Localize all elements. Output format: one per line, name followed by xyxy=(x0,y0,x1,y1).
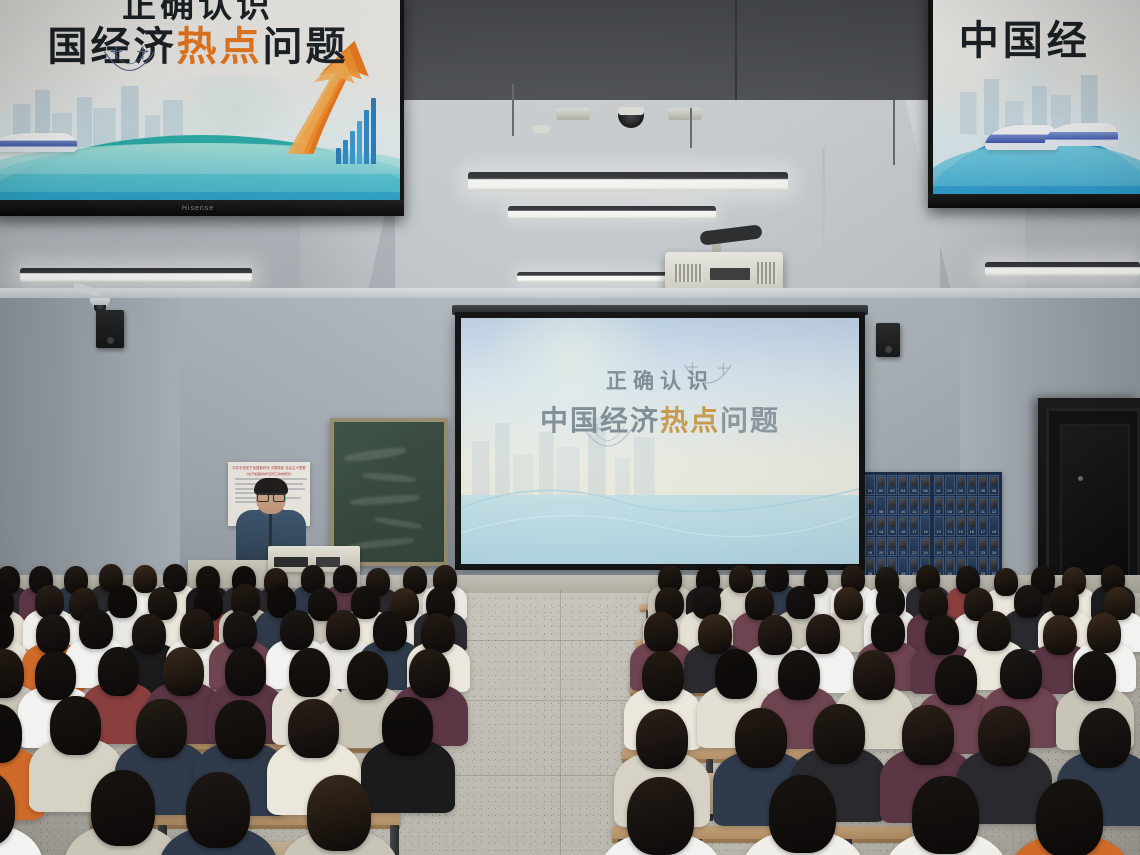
audience-head xyxy=(1014,585,1043,618)
audience-head xyxy=(1050,585,1079,618)
audience-head xyxy=(644,612,678,652)
audience-head xyxy=(935,655,977,705)
audience-head xyxy=(642,651,684,701)
audience-member[interactable] xyxy=(98,647,139,696)
audience-head xyxy=(307,775,371,851)
audience-member[interactable] xyxy=(1000,649,1042,699)
audience-head xyxy=(36,614,70,654)
audience-head xyxy=(978,706,1030,766)
audience-head xyxy=(186,772,250,848)
audience-head xyxy=(806,614,840,654)
audience-head xyxy=(35,651,76,700)
audience-member[interactable] xyxy=(627,777,694,855)
audience-member[interactable] xyxy=(35,651,76,700)
audience-member[interactable] xyxy=(288,699,339,758)
audience-head xyxy=(698,614,732,654)
audience-head xyxy=(50,696,101,755)
audience-head xyxy=(715,649,757,699)
audience-head xyxy=(925,615,959,655)
audience-head xyxy=(735,708,787,768)
audience-head xyxy=(288,699,339,758)
audience-head xyxy=(280,610,314,650)
audience-member[interactable] xyxy=(307,775,371,851)
audience-member[interactable] xyxy=(326,610,360,650)
audience-member[interactable] xyxy=(912,776,979,854)
audience-head xyxy=(215,700,266,759)
audience-member[interactable] xyxy=(698,614,732,654)
audience-head xyxy=(778,650,820,700)
audience-member[interactable] xyxy=(347,651,388,700)
audience-head xyxy=(1079,708,1131,768)
audience-head xyxy=(225,647,266,696)
audience-member[interactable] xyxy=(421,613,455,653)
audience-member[interactable] xyxy=(382,697,433,756)
audience-member[interactable] xyxy=(853,650,895,700)
audience-member[interactable] xyxy=(715,649,757,699)
audience-member[interactable] xyxy=(223,611,257,651)
audience-head xyxy=(636,709,688,769)
audience-member[interactable] xyxy=(636,709,688,769)
audience-member[interactable] xyxy=(0,770,15,846)
student-audience xyxy=(0,0,1140,855)
audience-head xyxy=(409,649,450,698)
audience-head xyxy=(373,611,407,651)
audience-member[interactable] xyxy=(758,615,792,655)
audience-head xyxy=(289,648,330,697)
audience-member[interactable] xyxy=(644,612,678,652)
audience-head xyxy=(1074,651,1116,701)
audience-member[interactable] xyxy=(806,614,840,654)
audience-head xyxy=(758,615,792,655)
audience-member[interactable] xyxy=(925,615,959,655)
audience-member[interactable] xyxy=(978,706,1030,766)
audience-member[interactable] xyxy=(225,647,266,696)
audience-head xyxy=(136,699,187,758)
audience-member[interactable] xyxy=(0,610,14,650)
audience-member[interactable] xyxy=(280,610,314,650)
audience-head xyxy=(79,609,113,649)
audience-head xyxy=(977,611,1011,651)
audience-head xyxy=(1000,649,1042,699)
audience-head xyxy=(912,776,979,854)
audience-head xyxy=(0,649,24,698)
audience-member[interactable] xyxy=(289,648,330,697)
audience-member[interactable] xyxy=(1014,585,1043,618)
audience-member[interactable] xyxy=(79,609,113,649)
lecture-hall-photo: 正确认识 国经济热点问题 Hisense xyxy=(0,0,1140,855)
audience-head xyxy=(180,609,214,649)
audience-member[interactable] xyxy=(1087,613,1121,653)
audience-head xyxy=(382,697,433,756)
audience-member[interactable] xyxy=(50,696,101,755)
audience-head xyxy=(347,651,388,700)
audience-member[interactable] xyxy=(1074,651,1116,701)
audience-head xyxy=(326,610,360,650)
audience-member[interactable] xyxy=(0,704,22,763)
audience-head xyxy=(91,770,155,846)
audience-member[interactable] xyxy=(0,649,24,698)
audience-member[interactable] xyxy=(871,612,905,652)
audience-member[interactable] xyxy=(136,699,187,758)
audience-head xyxy=(627,777,694,855)
audience-member[interactable] xyxy=(1036,779,1103,855)
audience-head xyxy=(1036,779,1103,855)
audience-head xyxy=(769,775,836,853)
audience-member[interactable] xyxy=(186,772,250,848)
audience-member[interactable] xyxy=(180,609,214,649)
audience-head xyxy=(223,611,257,651)
audience-member[interactable] xyxy=(215,700,266,759)
audience-head xyxy=(1043,615,1077,655)
audience-member[interactable] xyxy=(1079,708,1131,768)
audience-head xyxy=(1087,613,1121,653)
audience-member[interactable] xyxy=(977,611,1011,651)
audience-head xyxy=(163,647,204,696)
audience-member[interactable] xyxy=(163,647,204,696)
audience-member[interactable] xyxy=(778,650,820,700)
audience-member[interactable] xyxy=(813,704,865,764)
audience-head xyxy=(98,647,139,696)
audience-member[interactable] xyxy=(902,705,954,765)
audience-member[interactable] xyxy=(1043,615,1077,655)
audience-head xyxy=(421,613,455,653)
audience-member[interactable] xyxy=(769,775,836,853)
audience-head xyxy=(902,705,954,765)
audience-head xyxy=(813,704,865,764)
audience-head xyxy=(871,612,905,652)
audience-member[interactable] xyxy=(735,708,787,768)
audience-member[interactable] xyxy=(91,770,155,846)
audience-member[interactable] xyxy=(935,655,977,705)
audience-member[interactable] xyxy=(642,651,684,701)
audience-member[interactable] xyxy=(373,611,407,651)
audience-head xyxy=(853,650,895,700)
audience-member[interactable] xyxy=(1050,585,1079,618)
audience-member[interactable] xyxy=(409,649,450,698)
audience-member[interactable] xyxy=(36,614,70,654)
